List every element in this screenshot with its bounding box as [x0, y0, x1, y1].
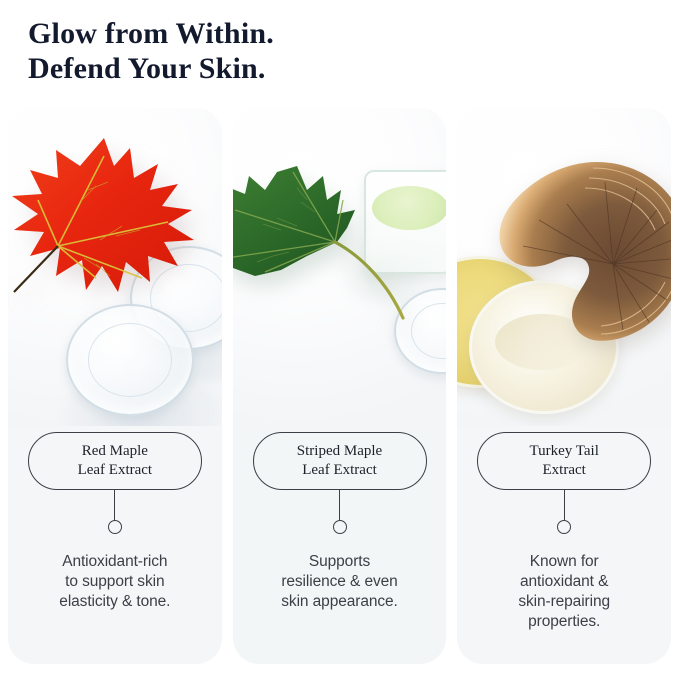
connector-node-circle — [108, 520, 122, 534]
ingredient-description: Supports resilience & even skin appearan… — [243, 552, 437, 612]
connector-line — [114, 490, 115, 521]
ingredient-label-pill: Turkey Tail Extract — [477, 432, 651, 490]
ingredient-card-red-maple: Red Maple Leaf Extract Antioxidant-rich … — [8, 108, 222, 664]
ingredient-card-turkey-tail: Turkey Tail Extract Known for antioxidan… — [457, 108, 671, 664]
ingredient-name: Striped Maple Leaf Extract — [297, 442, 382, 480]
ingredient-description: Known for antioxidant & skin-repairing p… — [467, 552, 661, 632]
striped-maple-photo — [233, 108, 447, 426]
connector-node-circle — [557, 520, 571, 534]
headline-line-2: Defend Your Skin. — [28, 51, 588, 86]
ingredient-card-striped-maple: Striped Maple Leaf Extract Supports resi… — [233, 108, 447, 664]
connector-line — [564, 490, 565, 521]
ingredient-label-pill: Red Maple Leaf Extract — [28, 432, 202, 490]
red-maple-photo — [8, 108, 222, 426]
turkey-tail-mushroom-icon — [493, 158, 671, 348]
ingredient-name: Red Maple Leaf Extract — [78, 442, 153, 480]
headline-line-1: Glow from Within. — [28, 16, 588, 51]
turkey-tail-photo — [457, 108, 671, 426]
ingredient-benefits-panel: Glow from Within. Defend Your Skin. — [0, 0, 679, 679]
ingredient-description: Antioxidant-rich to support skin elastic… — [18, 552, 212, 612]
striped-maple-leaf-icon — [233, 160, 429, 320]
ingredient-label-pill: Striped Maple Leaf Extract — [253, 432, 427, 490]
red-maple-leaf-icon — [8, 126, 204, 306]
petri-dish — [66, 304, 194, 416]
connector-node-circle — [333, 520, 347, 534]
ingredient-name: Turkey Tail Extract — [529, 442, 598, 480]
page-title: Glow from Within. Defend Your Skin. — [28, 16, 588, 86]
connector-line — [339, 490, 340, 521]
dish-inner-ring — [88, 323, 172, 396]
ingredient-card-grid: Red Maple Leaf Extract Antioxidant-rich … — [8, 108, 671, 664]
